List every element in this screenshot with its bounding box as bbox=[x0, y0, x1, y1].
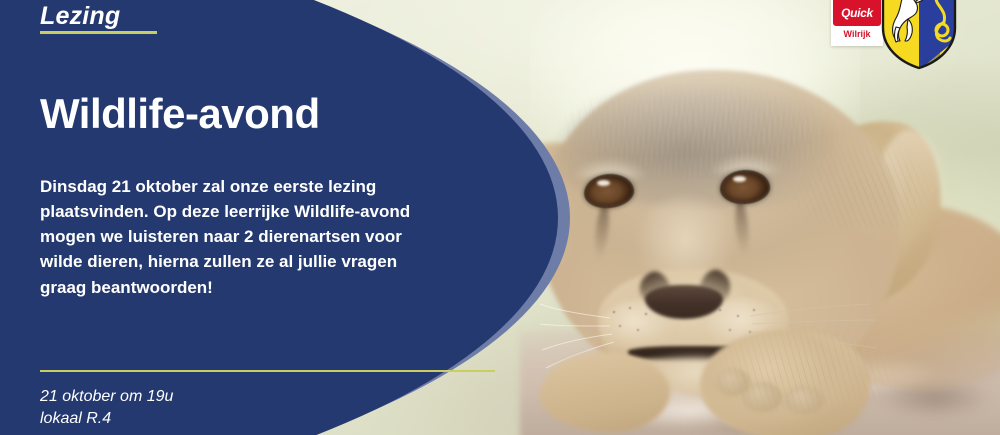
lion-paw-left bbox=[540, 352, 670, 432]
eyebrow-label: Lezing bbox=[40, 2, 120, 31]
lion-ear-fur-fringe bbox=[782, 108, 962, 228]
page-title: Wildlife-avond bbox=[40, 90, 320, 138]
lion-eye-glint-right bbox=[733, 176, 746, 182]
footer-divider bbox=[40, 370, 495, 372]
quick-logo-wordmark: Quick bbox=[831, 6, 883, 20]
eyebrow-underline bbox=[40, 31, 157, 34]
quick-wilrijk-logo: Quick Wilrijk bbox=[831, 0, 883, 46]
lion-eye-glint-left bbox=[597, 180, 610, 186]
footer-details: 21 oktober om 19u lokaal R.4 bbox=[40, 386, 173, 429]
body-paragraph: Dinsdag 21 oktober zal onze eerste lezin… bbox=[40, 174, 440, 300]
footer-location: lokaal R.4 bbox=[40, 408, 173, 430]
quick-logo-subtitle: Wilrijk bbox=[831, 29, 883, 39]
panel-content: Lezing Wildlife-avond Dinsdag 21 oktober… bbox=[0, 0, 520, 435]
wilrijk-coat-of-arms-icon bbox=[880, 0, 958, 70]
poster-canvas: Lezing Wildlife-avond Dinsdag 21 oktober… bbox=[0, 0, 1000, 435]
lion-paw-fur-fringe bbox=[690, 322, 920, 432]
footer-date-time: 21 oktober om 19u bbox=[40, 386, 173, 408]
